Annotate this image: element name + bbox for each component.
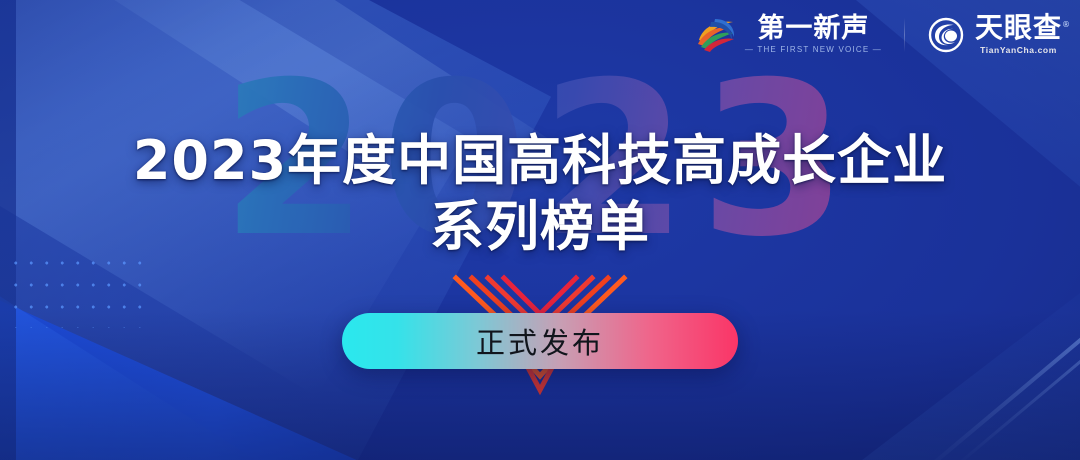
- logo-diyixinsheng-text: 第一新声 — THE FIRST NEW VOICE —: [745, 15, 882, 54]
- logo-tianyancha[interactable]: 天眼查 ® TianYanCha.com: [927, 14, 1062, 55]
- swirl-ribbon-logo-icon: [695, 16, 737, 54]
- logo-tianyancha-name: 天眼查 ®: [975, 14, 1062, 42]
- logo-diyixinsheng[interactable]: 第一新声 — THE FIRST NEW VOICE —: [695, 15, 882, 54]
- headline-line-2: 系列榜单: [0, 194, 1080, 260]
- logo-tianyancha-domain: TianYanCha.com: [980, 45, 1057, 55]
- banner-headline: 2023年度中国高科技高成长企业 系列榜单: [0, 128, 1080, 260]
- eye-aperture-logo-icon: [927, 16, 967, 54]
- release-status-label: 正式发布: [476, 320, 604, 362]
- logo-diyixinsheng-name: 第一新声: [757, 15, 869, 43]
- logo-diyixinsheng-tagline: — THE FIRST NEW VOICE —: [745, 45, 882, 54]
- logo-tianyancha-name-text: 天眼查: [975, 11, 1062, 44]
- logo-bar: 第一新声 — THE FIRST NEW VOICE — 天眼查 ® TianY…: [695, 14, 1062, 55]
- logo-tianyancha-text: 天眼查 ® TianYanCha.com: [975, 14, 1062, 55]
- promo-banner: 2023 2023年度中国高科技高成长企业 系列榜单 正式发布: [0, 0, 1080, 460]
- release-status-pill[interactable]: 正式发布: [342, 313, 738, 369]
- logo-divider: [904, 18, 905, 52]
- headline-line-1: 2023年度中国高科技高成长企业: [0, 128, 1080, 194]
- trademark-icon: ®: [1062, 11, 1071, 39]
